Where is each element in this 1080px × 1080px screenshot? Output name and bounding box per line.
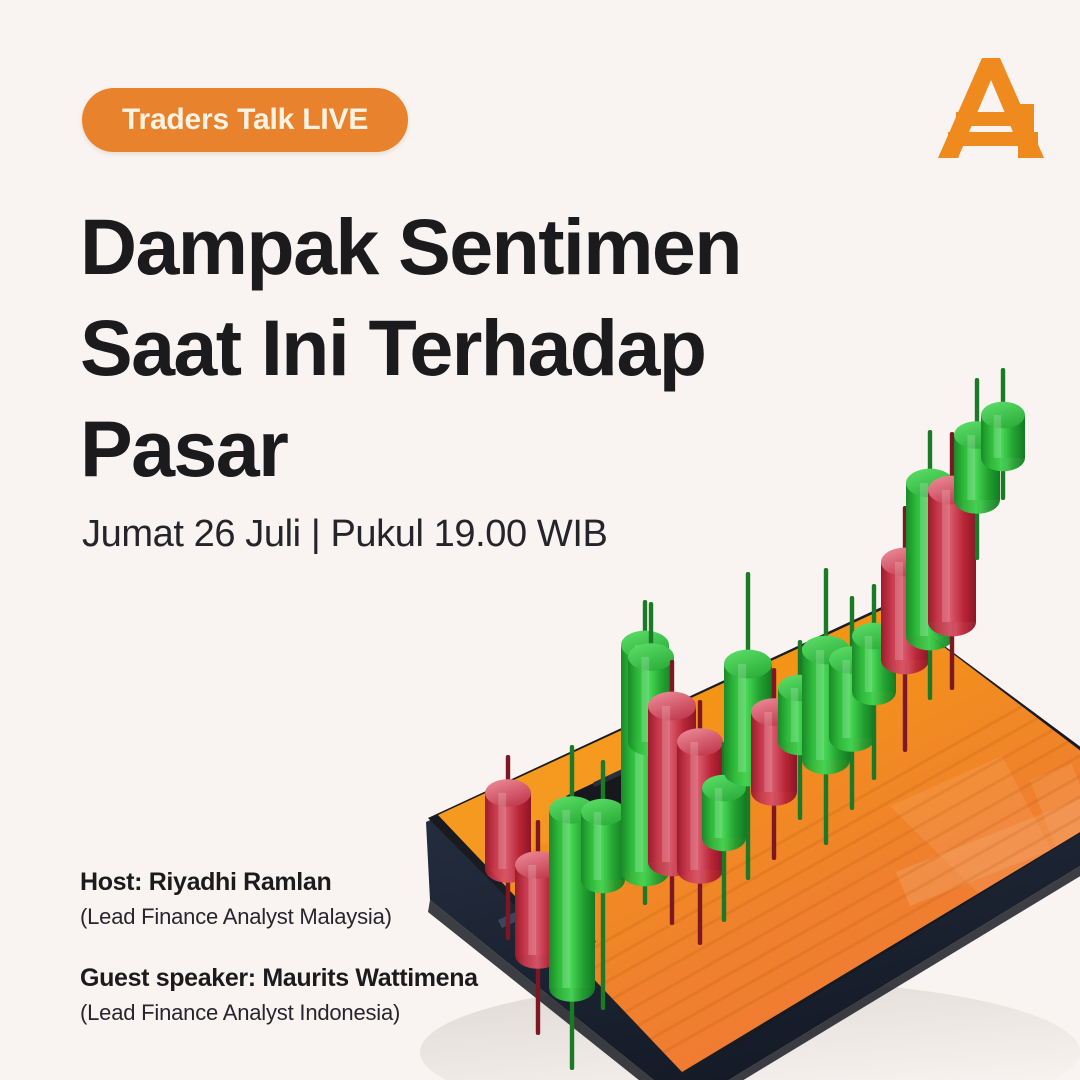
- ascend-a-logo: [934, 52, 1052, 162]
- headline-line-1: Dampak Sentimen: [80, 196, 840, 297]
- candle-19: [954, 378, 1000, 560]
- credits-block: Host: Riyadhi Ramlan (Lead Finance Analy…: [80, 866, 478, 1028]
- page-title: Dampak Sentimen Saat Ini Terhadap Pasar: [80, 196, 840, 499]
- guest-role: (Lead Finance Analyst Indonesia): [80, 997, 478, 1028]
- candle-20: [981, 368, 1025, 500]
- live-badge-label: Traders Talk LIVE: [122, 103, 368, 137]
- logo-svg: [934, 52, 1052, 162]
- live-badge[interactable]: Traders Talk LIVE: [82, 88, 408, 152]
- headline-line-3: Pasar: [80, 398, 840, 499]
- schedule-text: Jumat 26 Juli | Pukul 19.00 WIB: [82, 513, 608, 556]
- guest-name: Guest speaker: Maurits Wattimena: [80, 962, 478, 994]
- promo-poster: Traders Talk LIVE Dampak Sentimen Saat I…: [0, 0, 1080, 1080]
- host-name: Host: Riyadhi Ramlan: [80, 866, 478, 898]
- credit-guest: Guest speaker: Maurits Wattimena (Lead F…: [80, 962, 478, 1028]
- credit-host: Host: Riyadhi Ramlan (Lead Finance Analy…: [80, 866, 478, 932]
- headline-line-2: Saat Ini Terhadap: [80, 297, 840, 398]
- host-role: (Lead Finance Analyst Malaysia): [80, 901, 478, 932]
